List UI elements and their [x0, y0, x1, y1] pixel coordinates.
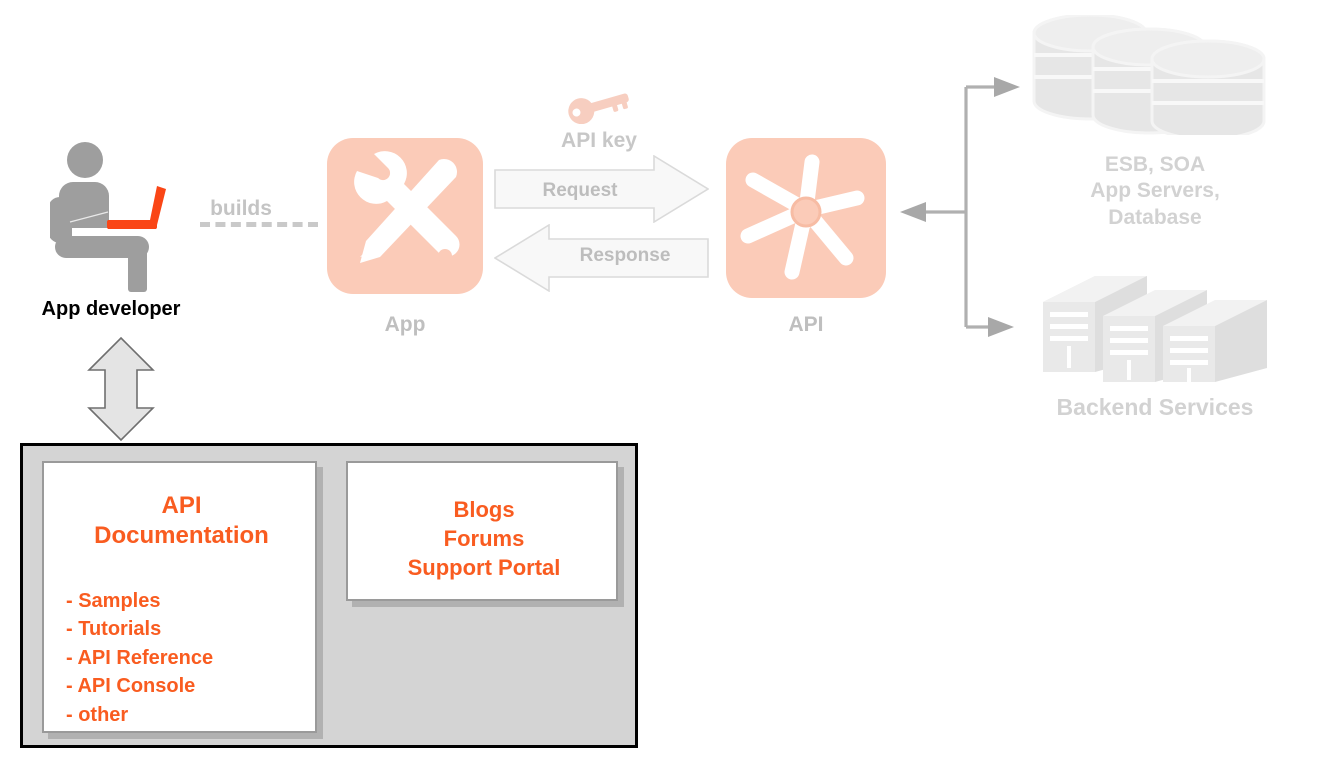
arrow-right-top	[994, 77, 1020, 97]
api-documentation-card-title: API Documentation	[44, 491, 319, 551]
request-label: Request	[500, 180, 660, 202]
server-racks-icon	[1035, 262, 1275, 382]
dev-to-docs-double-arrow	[85, 336, 157, 442]
doc-list-item[interactable]: - other	[66, 701, 316, 729]
community-line-1: Blogs	[348, 495, 620, 524]
doc-list-item[interactable]: - API Reference	[66, 644, 316, 672]
developer-icon	[50, 140, 185, 295]
developer-portal-panel: API Documentation - Samples - Tutorials …	[20, 443, 638, 748]
app-label: App	[327, 312, 483, 338]
backend-top-label-line-2: App Servers,	[1020, 178, 1290, 204]
backend-top-label: ESB, SOA App Servers, Database	[1020, 152, 1290, 231]
api-label: API	[726, 312, 886, 338]
api-key-label: API key	[534, 128, 664, 154]
doc-list-item[interactable]: - Tutorials	[66, 615, 316, 643]
doc-list-item[interactable]: - API Console	[66, 672, 316, 700]
developer-label: App developer	[16, 298, 206, 321]
community-card-text: Blogs Forums Support Portal	[348, 495, 620, 582]
community-card[interactable]: Blogs Forums Support Portal	[346, 461, 618, 601]
doc-title-line-1: API	[44, 491, 319, 521]
response-label: Response	[545, 245, 705, 267]
doc-title-line-2: Documentation	[44, 521, 319, 551]
diagram-canvas: App developer builds App API key	[0, 0, 1338, 770]
builds-label: builds	[195, 196, 287, 222]
backend-connector-tree	[890, 60, 1040, 350]
key-icon	[564, 84, 634, 124]
api-documentation-card[interactable]: API Documentation - Samples - Tutorials …	[42, 461, 317, 733]
community-line-3: Support Portal	[348, 553, 620, 582]
backend-top-label-line-3: Database	[1020, 205, 1290, 231]
arrow-left-to-api	[900, 202, 926, 222]
database-cylinders-icon	[1030, 15, 1280, 135]
doc-list-item[interactable]: - Samples	[66, 587, 316, 615]
builds-dashed-connector	[200, 222, 318, 227]
arrow-right-bottom	[988, 317, 1014, 337]
community-line-2: Forums	[348, 524, 620, 553]
app-tile[interactable]	[327, 138, 483, 294]
api-documentation-card-list: - Samples - Tutorials - API Reference - …	[66, 587, 316, 729]
api-star-hub-icon	[726, 138, 886, 298]
backend-top-label-line-1: ESB, SOA	[1020, 152, 1290, 178]
wrench-and-pencil-tools-icon	[327, 138, 483, 294]
api-tile[interactable]	[726, 138, 886, 298]
backend-bottom-label: Backend Services	[1000, 393, 1310, 421]
